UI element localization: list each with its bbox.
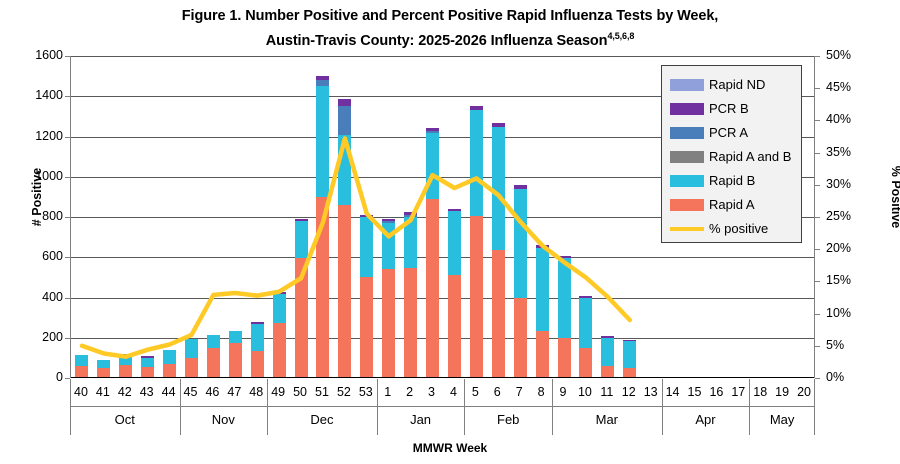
legend-item[interactable]: Rapid ND [670, 73, 801, 97]
month-label: Dec [267, 410, 377, 430]
week-tick-label: 2 [398, 383, 421, 401]
week-tick-label: 7 [508, 383, 531, 401]
month-separator [377, 379, 378, 407]
week-tick-label: 53 [354, 383, 377, 401]
week-tick-label: 50 [289, 383, 312, 401]
y-tick-label-right: 45% [826, 81, 884, 93]
y-tick-label-left: 400 [5, 291, 63, 303]
y-axis-label-left: # Positive [30, 142, 44, 252]
y-tick-label-right: 20% [826, 242, 884, 254]
month-separator [267, 407, 268, 435]
month-label: Oct [70, 410, 180, 430]
week-tick-label: 49 [267, 383, 290, 401]
week-tick-label: 46 [201, 383, 224, 401]
week-tick-label: 41 [91, 383, 114, 401]
month-separator [662, 407, 663, 435]
month-label: Jan [377, 410, 465, 430]
legend-item[interactable]: % positive [670, 217, 801, 241]
month-separator [814, 379, 815, 407]
week-tick-label: 45 [179, 383, 202, 401]
y-axis-label-right: % Positive [889, 142, 900, 252]
y-tick-label-left: 600 [5, 250, 63, 262]
month-separator [70, 407, 71, 435]
y-tick-label-left: 1000 [5, 170, 63, 182]
chart-title-superscript: 4,5,6,8 [607, 31, 634, 41]
legend-swatch-icon [670, 151, 704, 163]
week-tick-label: 8 [530, 383, 553, 401]
month-separator [180, 407, 181, 435]
y-tick-label-left: 200 [5, 331, 63, 343]
week-tick-label: 12 [617, 383, 640, 401]
y-tick-label-right: 0% [826, 371, 884, 383]
legend-item-label: Rapid ND [709, 74, 765, 96]
y-tick-mark-right [815, 378, 820, 379]
week-tick-label: 20 [793, 383, 816, 401]
y-tick-label-right: 30% [826, 178, 884, 190]
legend-swatch-icon [670, 79, 704, 91]
month-separator [749, 407, 750, 435]
week-tick-label: 10 [573, 383, 596, 401]
week-tick-label: 15 [683, 383, 706, 401]
chart-title: Figure 1. Number Positive and Percent Po… [0, 6, 900, 51]
week-tick-label: 13 [639, 383, 662, 401]
legend-item-label: Rapid A [709, 194, 755, 216]
week-tick-label: 9 [552, 383, 575, 401]
month-separator [377, 407, 378, 435]
week-tick-label: 48 [245, 383, 268, 401]
month-label: Mar [552, 410, 662, 430]
week-tick-label: 3 [420, 383, 443, 401]
week-tick-label: 17 [727, 383, 750, 401]
month-label: Feb [464, 410, 552, 430]
y-tick-label-right: 40% [826, 113, 884, 125]
legend-item[interactable]: Rapid A and B [670, 145, 801, 169]
legend-swatch-icon [670, 175, 704, 187]
y-tick-label-right: 15% [826, 274, 884, 286]
week-tick-label: 11 [595, 383, 618, 401]
month-separator [70, 379, 71, 407]
week-tick-label: 47 [223, 383, 246, 401]
week-tick-label: 6 [486, 383, 509, 401]
y-tick-label-right: 25% [826, 210, 884, 222]
week-tick-label: 5 [464, 383, 487, 401]
legend-line-icon [670, 227, 704, 231]
week-tick-label: 51 [310, 383, 333, 401]
week-tick-label: 44 [157, 383, 180, 401]
legend-item[interactable]: PCR A [670, 121, 801, 145]
legend-item[interactable]: Rapid B [670, 169, 801, 193]
month-band: OctNovDecJanFebMarAprMay [70, 407, 815, 439]
month-separator [814, 407, 815, 435]
legend-item[interactable]: Rapid A [670, 193, 801, 217]
y-tick-label-right: 10% [826, 307, 884, 319]
legend-swatch-icon [670, 199, 704, 211]
y-tick-label-left: 1200 [5, 130, 63, 142]
y-tick-label-left: 1400 [5, 89, 63, 101]
month-separator [749, 379, 750, 407]
week-tick-label: 43 [135, 383, 158, 401]
week-tick-label: 16 [705, 383, 728, 401]
y-tick-label-left: 0 [5, 371, 63, 383]
y-tick-label-left: 800 [5, 210, 63, 222]
week-tick-label: 4 [442, 383, 465, 401]
month-separator [464, 407, 465, 435]
chart-title-line2: Austin-Travis County: 2025-2026 Influenz… [0, 26, 900, 51]
legend-item-label: PCR B [709, 98, 749, 120]
week-tick-label: 40 [69, 383, 92, 401]
legend-item-label: PCR A [709, 122, 748, 144]
week-tick-label: 19 [771, 383, 794, 401]
legend-item-label: % positive [709, 218, 768, 240]
x-axis-label: MMWR Week [0, 441, 900, 455]
legend-item-label: Rapid A and B [709, 146, 791, 168]
chart-legend: Rapid NDPCR BPCR ARapid A and BRapid BRa… [661, 65, 802, 243]
legend-item[interactable]: PCR B [670, 97, 801, 121]
y-tick-label-left: 1600 [5, 49, 63, 61]
y-tick-label-right: 50% [826, 49, 884, 61]
y-tick-label-right: 35% [826, 146, 884, 158]
week-tick-label: 52 [332, 383, 355, 401]
week-tick-label: 14 [661, 383, 684, 401]
month-separator [464, 379, 465, 407]
month-separator [552, 379, 553, 407]
y-tick-label-right: 5% [826, 339, 884, 351]
month-label: May [749, 410, 815, 430]
legend-swatch-icon [670, 103, 704, 115]
month-separator [662, 379, 663, 407]
month-label: Nov [180, 410, 268, 430]
week-tick-label: 1 [376, 383, 399, 401]
x-axis-baseline [71, 377, 814, 379]
month-separator [267, 379, 268, 407]
legend-item-label: Rapid B [709, 170, 755, 192]
month-label: Apr [662, 410, 750, 430]
chart-figure: Figure 1. Number Positive and Percent Po… [0, 0, 900, 464]
legend-swatch-icon [670, 127, 704, 139]
chart-title-line2-text: Austin-Travis County: 2025-2026 Influenz… [266, 33, 608, 49]
month-separator [552, 407, 553, 435]
month-separator [180, 379, 181, 407]
chart-title-line1: Figure 1. Number Positive and Percent Po… [182, 8, 718, 24]
week-tick-label: 18 [749, 383, 772, 401]
week-tick-label: 42 [113, 383, 136, 401]
week-tick-band: 4041424344454647484950515253123456789101… [70, 379, 815, 407]
